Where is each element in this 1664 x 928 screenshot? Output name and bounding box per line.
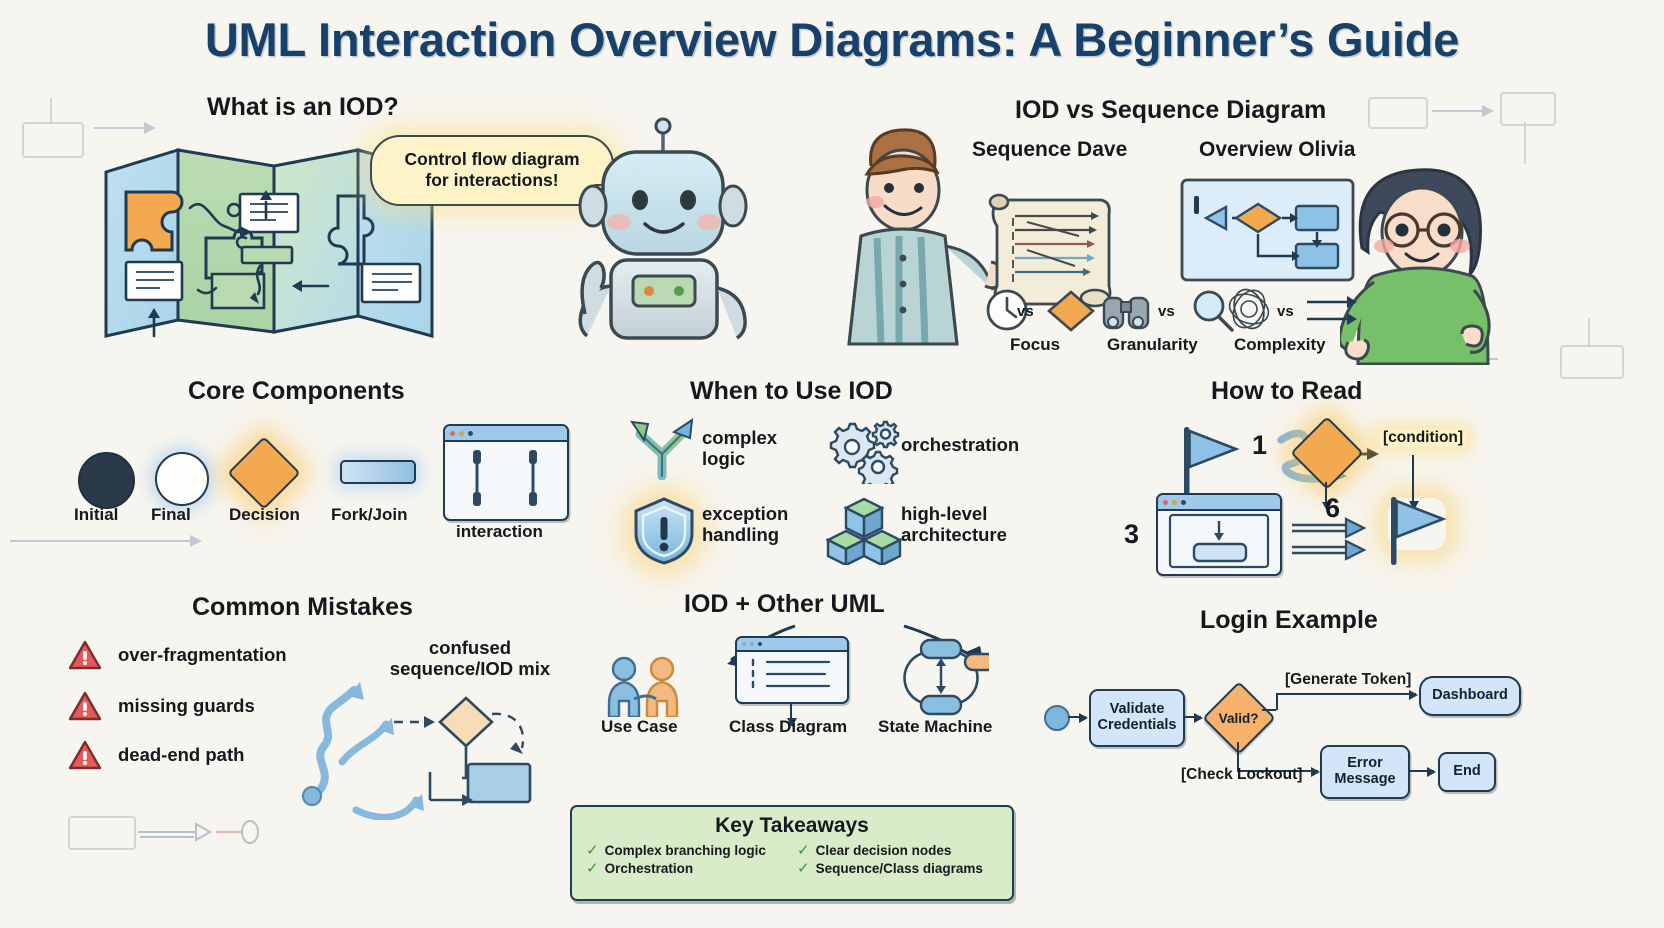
ghost-line-tr	[1524, 122, 1526, 164]
window-titlebar-3	[737, 638, 847, 652]
core-final-circle-icon	[155, 452, 209, 506]
gears-icon	[826, 418, 904, 484]
core-decision-diamond-icon	[227, 436, 301, 510]
how-to-read-interaction-frame-icon	[1156, 493, 1282, 576]
core-label-initial: Initial	[74, 505, 118, 525]
arrow-start-to-validate	[1068, 716, 1086, 718]
window-dot-blue-2	[1181, 500, 1186, 505]
vs-label-focus: vs	[1017, 303, 1034, 320]
takeaway-label-4: Sequence/Class diagrams	[816, 861, 983, 876]
takeaway-item-2: ✓ Clear decision nodes	[797, 843, 998, 858]
valid-yes-edge-h1	[1262, 709, 1276, 711]
two-people-icon	[598, 655, 694, 717]
olivia-whiteboard-icon	[1180, 178, 1355, 283]
section-title-how-to-read: How to Read	[1211, 377, 1362, 406]
vs-label-granularity: vs	[1158, 303, 1175, 320]
ghost-line-r	[1588, 318, 1590, 346]
dashboard-label: Dashboard	[1432, 688, 1508, 704]
takeaway-label-3: Orchestration	[605, 861, 694, 876]
core-forkjoin-bar-icon	[340, 460, 416, 484]
ghost-box-r	[1560, 345, 1624, 379]
core-label-decision: Decision	[229, 505, 300, 525]
check-icon-1: ✓	[586, 843, 599, 858]
condition-guard-label: [condition]	[1380, 429, 1466, 447]
ghost-box-tr2	[1500, 92, 1556, 126]
key-takeaways-title: Key Takeaways	[572, 807, 1012, 838]
warning-triangle-icon-3	[68, 740, 102, 770]
guard-label-check-lockout: [Check Lockout]	[1181, 766, 1302, 784]
window-dot-blue	[468, 431, 473, 436]
mistake-label-dead-end-path: dead-end path	[118, 745, 244, 766]
warning-triangle-icon-1	[68, 640, 102, 670]
section-title-iod-other-uml: IOD + Other UML	[684, 590, 885, 619]
window-dot-c	[758, 642, 762, 646]
core-label-final: Final	[151, 505, 191, 525]
validate-line-1: Validate	[1110, 701, 1165, 717]
key-takeaways-list: ✓ Complex branching logic ✓ Clear decisi…	[572, 838, 1012, 876]
takeaway-label-1: Complex branching logic	[605, 843, 766, 858]
class-lines-icon	[737, 652, 847, 702]
comparison-label-complexity: Complexity	[1234, 335, 1326, 355]
login-node-dashboard: Dashboard	[1419, 676, 1521, 716]
ghost-arrow-tl	[92, 117, 162, 139]
mistake-label-missing-guards: missing guards	[118, 696, 255, 717]
end-label: End	[1453, 764, 1480, 780]
takeaway-item-1: ✓ Complex branching logic	[586, 843, 787, 858]
tangle-icon	[1222, 288, 1276, 332]
ghost-box-tl	[22, 122, 84, 158]
window-dot-yellow	[459, 431, 464, 436]
validate-line-2: Credentials	[1098, 717, 1177, 733]
step-number-1: 1	[1252, 430, 1267, 461]
takeaway-label-2: Clear decision nodes	[816, 843, 952, 858]
character-label-overview-olivia: Overview Olivia	[1199, 138, 1355, 162]
login-node-valid-decision: Valid?	[1202, 681, 1276, 755]
valid-label: Valid?	[1219, 710, 1259, 725]
login-node-validate-credentials: Validate Credentials	[1089, 689, 1185, 747]
error-line-1: Error	[1347, 755, 1382, 771]
error-line-2: Message	[1334, 771, 1395, 787]
guard-label-generate-token: [Generate Token]	[1285, 671, 1411, 689]
window-dot-yellow-2	[1172, 500, 1177, 505]
valid-yes-edge-v	[1276, 693, 1278, 710]
nested-frame-icon	[1158, 511, 1280, 573]
section-title-core-components: Core Components	[188, 377, 405, 406]
key-takeaways-panel: Key Takeaways ✓ Complex branching logic …	[570, 805, 1014, 901]
window-titlebar-2	[1158, 495, 1280, 511]
core-label-interaction: interaction	[456, 522, 543, 542]
uml-label-use-case: Use Case	[601, 717, 678, 737]
takeaway-item-4: ✓ Sequence/Class diagrams	[797, 861, 998, 876]
section-title-what-is-iod: What is an IOD?	[207, 93, 399, 122]
core-initial-circle-icon	[78, 452, 135, 509]
window-dot-a	[742, 642, 746, 646]
infographic-canvas: UML Interaction Overview Diagrams: A Beg…	[0, 0, 1664, 928]
core-interaction-frame-icon	[443, 424, 569, 521]
when-label-high-level-architecture: high-level architecture	[901, 504, 1007, 545]
when-label-orchestration: orchestration	[901, 435, 1019, 456]
warning-triangle-icon-2	[68, 691, 102, 721]
when-label-complex-logic: complex logic	[702, 428, 777, 469]
step-number-3: 3	[1124, 519, 1139, 550]
person-olivia-illustration	[1340, 150, 1520, 365]
branch-arrow-icon	[628, 418, 696, 480]
section-title-common-mistakes: Common Mistakes	[192, 593, 413, 622]
mistake-label-over-fragmentation: over-fragmentation	[118, 645, 287, 666]
ghost-arrow-tr	[1430, 100, 1500, 122]
flag-icon-start	[1178, 425, 1244, 497]
confused-flow-sketch	[290, 660, 560, 820]
vs-label-complexity: vs	[1277, 303, 1294, 320]
arrow-validate-to-valid	[1183, 716, 1201, 718]
window-dot-red-2	[1163, 500, 1168, 505]
takeaway-item-3: ✓ Orchestration	[586, 861, 787, 876]
flag-icon-end	[1385, 495, 1451, 567]
when-label-exception-handling: exception handling	[702, 504, 788, 545]
shield-alert-icon	[630, 495, 698, 567]
bubble-line-2: for interactions!	[425, 170, 558, 190]
lifelines-icon	[445, 442, 567, 518]
login-node-end: End	[1438, 752, 1496, 792]
core-label-forkjoin: Fork/Join	[331, 505, 408, 525]
ghost-box-bl	[68, 816, 136, 850]
login-node-error-message: Error Message	[1320, 745, 1410, 799]
section-title-when-to-use: When to Use IOD	[690, 377, 893, 406]
arrow-class-down	[790, 702, 792, 718]
check-icon-2: ✓	[797, 843, 810, 858]
cubes-icon	[824, 495, 906, 565]
diamond-icon-focus	[1046, 288, 1098, 334]
section-title-iod-vs-sequence: IOD vs Sequence Diagram	[1015, 96, 1326, 125]
class-diagram-frame-icon	[735, 636, 849, 704]
window-titlebar	[445, 426, 567, 442]
uml-label-class-diagram: Class Diagram	[729, 717, 847, 737]
uml-label-state-machine: State Machine	[878, 717, 992, 737]
login-initial-node	[1044, 705, 1070, 731]
page-title: UML Interaction Overview Diagrams: A Beg…	[0, 12, 1664, 67]
state-cycle-icon	[893, 636, 989, 716]
comparison-label-focus: Focus	[1010, 335, 1060, 355]
check-icon-4: ✓	[797, 861, 810, 876]
arrow-valid-to-dashboard	[1276, 693, 1416, 695]
window-dot-b	[750, 642, 754, 646]
robot-mascot-icon	[545, 108, 775, 348]
ghost-box-tr1	[1368, 97, 1428, 129]
arrow-error-to-end	[1408, 770, 1434, 772]
ghost-arrow-l	[8, 530, 208, 552]
comparison-label-granularity: Granularity	[1107, 335, 1198, 355]
binoculars-icon	[1100, 288, 1156, 332]
ghost-line-tl	[50, 98, 52, 124]
ghost-arrow-bl	[136, 818, 261, 848]
section-title-login-example: Login Example	[1200, 606, 1378, 635]
arrows-icon	[1305, 292, 1361, 330]
check-icon-3: ✓	[586, 861, 599, 876]
double-arrow-icon	[1290, 515, 1370, 565]
window-dot-red	[450, 431, 455, 436]
